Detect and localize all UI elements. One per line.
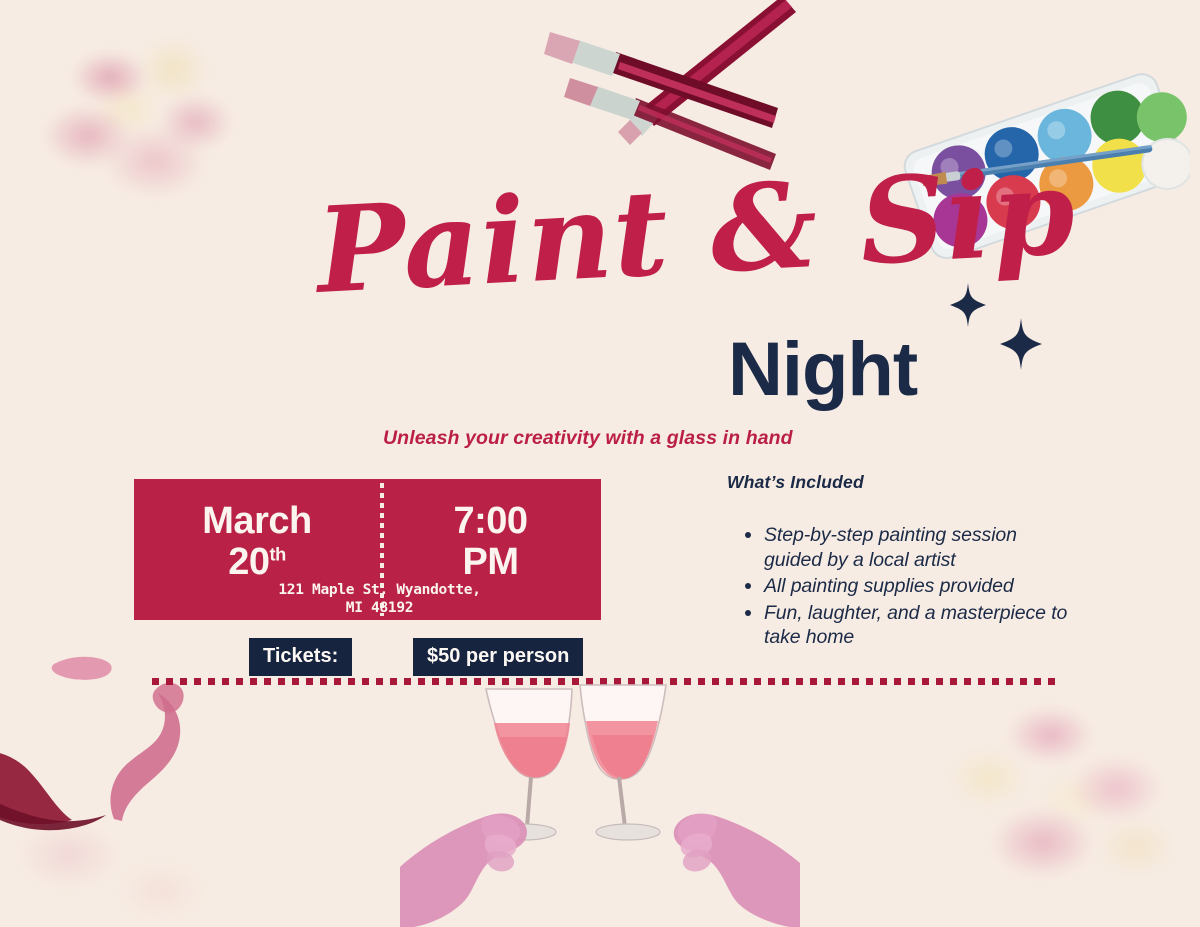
sparkle-icon xyxy=(950,283,986,327)
whats-included-list: Step-by-step painting session guided by … xyxy=(727,522,1077,650)
watercolor-splash-top-left xyxy=(20,15,245,210)
event-date-block: March 20th xyxy=(134,501,380,583)
event-day-number: 20 xyxy=(228,541,269,583)
event-day-suffix: th xyxy=(270,543,286,564)
watercolor-splash-bottom-left xyxy=(0,747,230,927)
event-flyer: Paint & Sip Night Unleash your creativit… xyxy=(0,0,1200,927)
list-item: All painting supplies provided xyxy=(764,573,1077,599)
event-time-block: 7:00 PM xyxy=(380,501,601,583)
watercolor-splash-bottom-right xyxy=(940,692,1185,907)
event-day: 20th xyxy=(134,542,380,583)
event-address-line-1: 121 Maple St. Wyandotte, xyxy=(158,581,601,599)
sparkle-icon xyxy=(1000,318,1042,370)
tickets-label-badge: Tickets: xyxy=(249,638,352,676)
list-item: Fun, laughter, and a masterpiece to take… xyxy=(764,600,1077,650)
event-address-line-2: MI 48192 xyxy=(158,599,601,617)
ticket-price-badge: $50 per person xyxy=(413,638,583,676)
dotted-divider xyxy=(152,678,1055,685)
page-subtitle: Unleash your creativity with a glass in … xyxy=(383,427,793,450)
date-time-card: March 20th 7:00 PM 121 Maple St. Wyandot… xyxy=(134,479,601,620)
list-item: Step-by-step painting session guided by … xyxy=(764,522,1077,572)
whats-included-heading: What’s Included xyxy=(727,472,1077,493)
event-address: 121 Maple St. Wyandotte, MI 48192 xyxy=(134,581,601,618)
page-title-script: Paint & Sip xyxy=(314,160,942,352)
wine-stain-illustration xyxy=(0,637,260,887)
page-title-night: Night xyxy=(728,332,917,408)
whats-included-panel: What’s Included Step-by-step painting se… xyxy=(727,472,1077,651)
event-time-hour: 7:00 xyxy=(380,501,601,542)
paintbrushes-illustration xyxy=(520,0,820,170)
event-time-period: PM xyxy=(380,542,601,583)
toasting-wine-glasses-illustration xyxy=(400,677,800,927)
event-month: March xyxy=(134,501,380,542)
